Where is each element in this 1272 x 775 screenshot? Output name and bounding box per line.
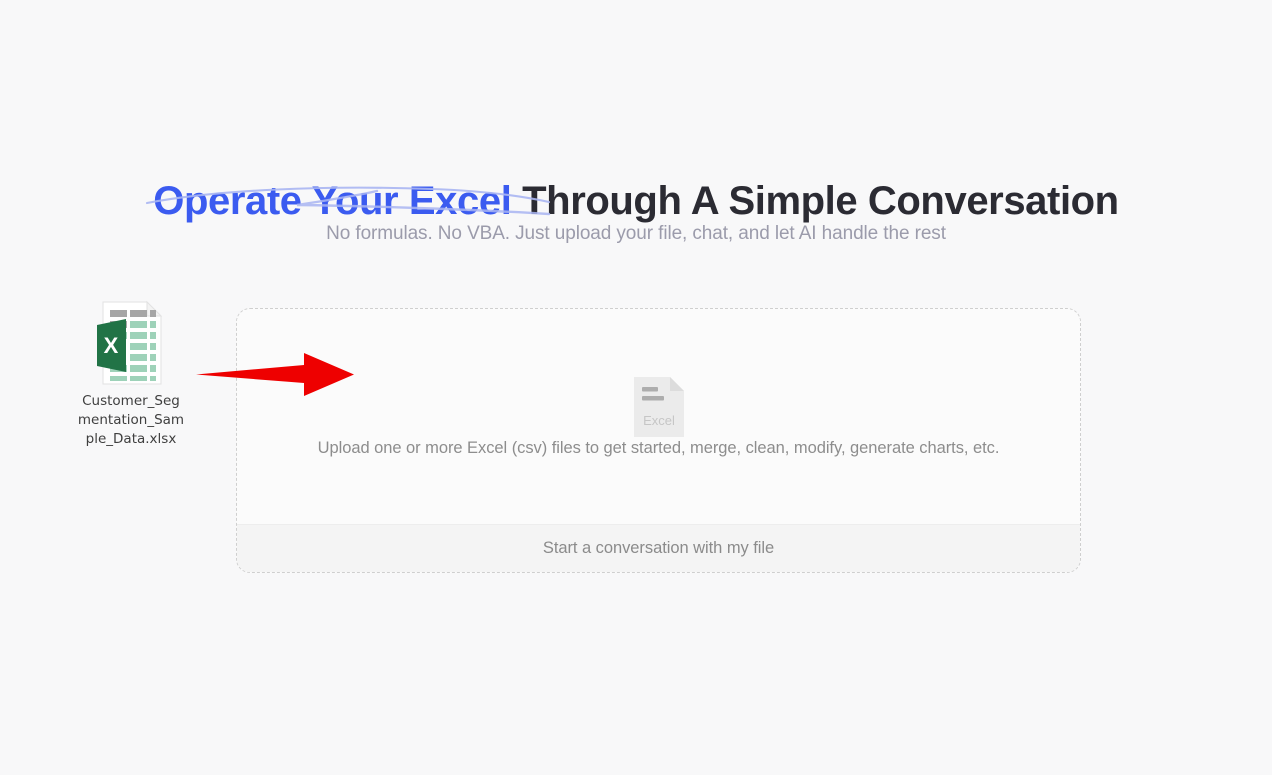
page-root: Operate Your Excel Through A Simple Conv… [0, 0, 1272, 775]
desktop-file-label: Customer_Segmentation_Sample_Data.xlsx [76, 392, 186, 449]
desktop-file-item[interactable]: X Customer_Segmentation_Sample_Data.xlsx [76, 300, 186, 449]
start-conversation-bar[interactable]: Start a conversation with my file [237, 524, 1080, 572]
page-title-rest: Through A Simple Conversation [511, 179, 1118, 223]
excel-document-placeholder-icon: Excel [632, 375, 686, 439]
page-title-accent: Operate Your Excel [153, 179, 511, 223]
page-subtitle: No formulas. No VBA. Just upload your fi… [0, 220, 1272, 248]
dropzone-body[interactable]: Excel Upload one or more Excel (csv) fil… [237, 309, 1080, 526]
placeholder-icon-label: Excel [643, 413, 675, 428]
start-conversation-label: Start a conversation with my file [543, 539, 774, 558]
dropzone-hint-text: Upload one or more Excel (csv) files to … [237, 439, 1080, 458]
file-upload-dropzone[interactable]: Excel Upload one or more Excel (csv) fil… [236, 308, 1081, 573]
excel-file-icon: X [95, 300, 167, 386]
page-title: Operate Your Excel Through A Simple Conv… [153, 175, 1118, 227]
svg-text:X: X [104, 333, 119, 358]
